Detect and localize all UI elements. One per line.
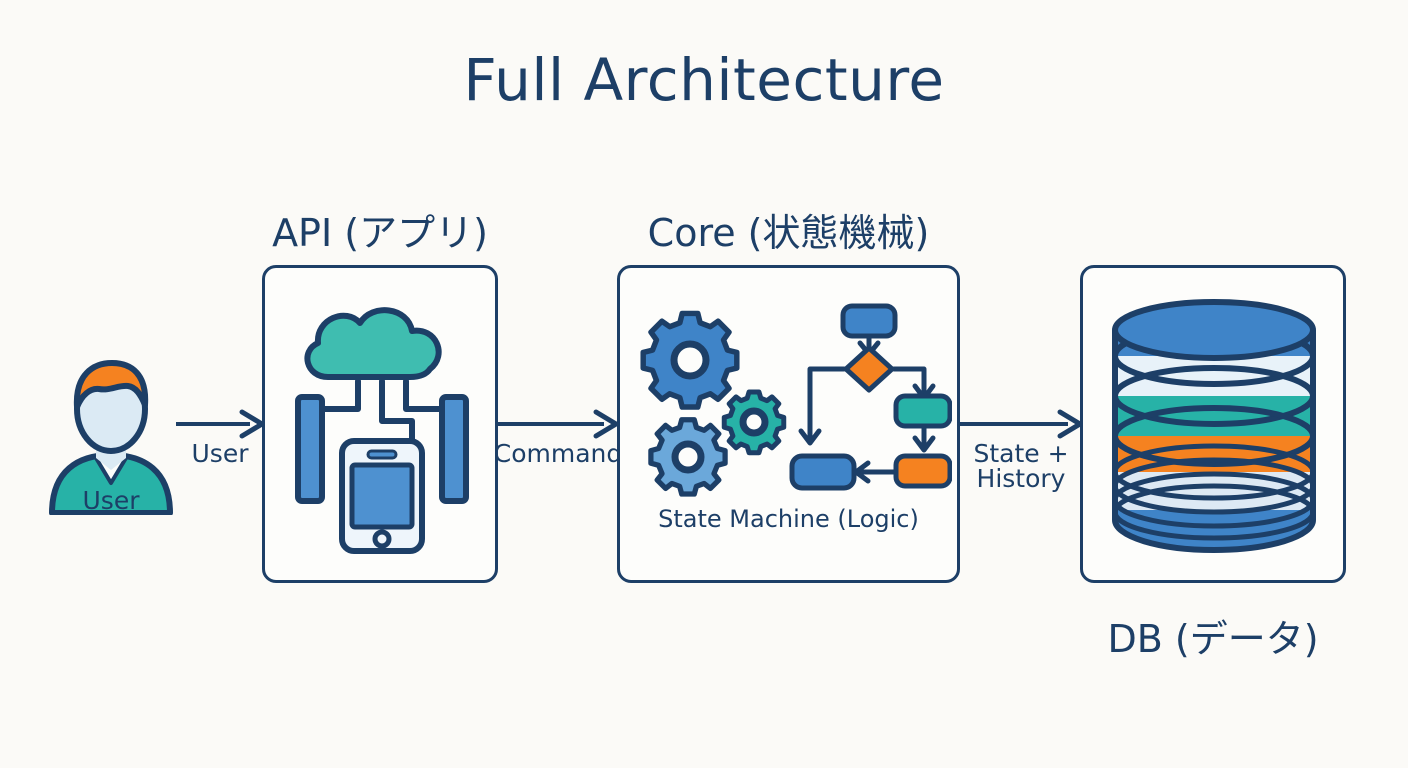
diagram-canvas: Full Architecture User User API (アプリ) (0, 0, 1408, 768)
arrow-api-to-core-label: Command (486, 441, 630, 466)
arrow-core-to-db (958, 408, 1084, 440)
arrow-api-to-core (496, 408, 620, 440)
diagram-title: Full Architecture (0, 46, 1408, 114)
arrow-core-to-db-label: State + History (948, 441, 1094, 491)
core-caption: State Machine (Logic) (617, 505, 960, 533)
cloud-mobile-app-icon (284, 293, 480, 555)
database-cylinder-icon (1105, 296, 1323, 554)
stage-label-db: DB (データ) (1080, 608, 1346, 663)
stage-label-api: API (アプリ) (262, 202, 498, 257)
gears-icon (636, 300, 796, 500)
stage-label-core: Core (状態機械) (617, 202, 960, 257)
user-actor-label: User (44, 486, 178, 515)
arrow-user-to-api (176, 408, 266, 440)
state-machine-flowchart-icon (786, 300, 952, 500)
